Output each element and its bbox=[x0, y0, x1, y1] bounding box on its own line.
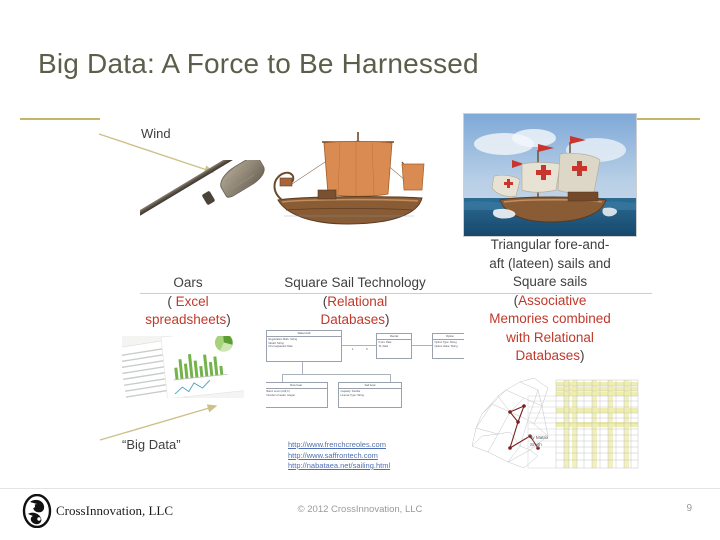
oar-blade bbox=[215, 160, 269, 200]
caption-subtext-lateen: (Associative Memories combined with Rela… bbox=[462, 292, 638, 366]
wind-label: Wind bbox=[141, 126, 171, 141]
er-multiplicity-left: 1 bbox=[352, 347, 354, 351]
oar-image bbox=[140, 160, 280, 260]
er-connector-sailboat bbox=[390, 374, 391, 382]
caption-heading-lateen: Triangular fore-and- aft (lateen) sails … bbox=[462, 236, 638, 292]
er-connector-down-stub bbox=[302, 360, 303, 374]
caption-heading-oars: Oars bbox=[122, 274, 254, 293]
er-multiplicity-right: 0 bbox=[366, 347, 368, 351]
source-link[interactable]: http://www.frenchcreoles.com bbox=[288, 440, 390, 451]
oar-collar bbox=[202, 191, 216, 206]
square-sail-ship-image bbox=[262, 128, 430, 238]
paren-close: ) bbox=[580, 348, 585, 363]
er-entity-option: Option Option Type: String Option Value:… bbox=[432, 333, 464, 359]
caption-red-2: Memories combined bbox=[489, 311, 611, 326]
big-data-label: “Big Data” bbox=[122, 437, 181, 452]
copyright-notice: © 2012 CrossInnovation, LLC bbox=[0, 504, 720, 515]
caption-heading-line-2: aft (lateen) sails and bbox=[489, 256, 611, 271]
caption-heading-line-1: Triangular fore-and- bbox=[491, 237, 610, 252]
paren-close: ) bbox=[226, 312, 231, 327]
er-connector-rowboat bbox=[282, 374, 283, 382]
page-title: Big Data: A Force to Be Harnessed bbox=[38, 47, 678, 81]
source-url-list: http://www.frenchcreoles.com http://www.… bbox=[288, 440, 390, 472]
paren-open: ( bbox=[167, 294, 175, 309]
spreadsheet-photo-image bbox=[122, 336, 244, 398]
accent-rule-left bbox=[20, 118, 100, 120]
er-attribute: License Type: String bbox=[341, 394, 400, 397]
column-caption-square-sail: Square Sail Technology (Relational Datab… bbox=[264, 274, 446, 330]
source-link[interactable]: http://www.saffrontech.com bbox=[288, 451, 390, 462]
caption-red-3: with Relational bbox=[506, 330, 594, 345]
caption-subtext-square-sail: (Relational Databases) bbox=[264, 293, 446, 330]
accent-rule-right bbox=[626, 118, 700, 120]
er-connector-watercraft-rental bbox=[340, 345, 376, 346]
source-link[interactable]: http://nabataea.net/sailing.html bbox=[288, 461, 390, 472]
er-diagram-image: Watercraft Registration Mark: String Mod… bbox=[266, 330, 464, 410]
caption-red-2: spreadsheets bbox=[145, 312, 226, 327]
paren-close: ) bbox=[385, 312, 390, 327]
caption-heading-square-sail: Square Sail Technology bbox=[264, 274, 446, 293]
caption-red-1: Excel bbox=[176, 294, 209, 309]
caption-heading-line-3: Square sails bbox=[513, 274, 587, 289]
slide-number: 9 bbox=[686, 503, 692, 514]
er-entity-sail-boat: Sail boat Capacity: Double License Type:… bbox=[338, 382, 402, 408]
caption-red-1: Relational bbox=[327, 294, 387, 309]
caption-red-4: Databases bbox=[515, 348, 580, 363]
footer-divider bbox=[0, 488, 720, 489]
er-entity-rental: Rental From: Date To: Date bbox=[376, 333, 412, 359]
caravel-painting-image bbox=[463, 113, 637, 237]
er-attribute: Number of seats: Integer bbox=[267, 394, 326, 397]
er-attribute: To: Date bbox=[379, 345, 410, 348]
matrix-caption-line-1: cy Matrix bbox=[530, 435, 549, 440]
caption-red-2: Databases bbox=[320, 312, 385, 327]
matrix-caption-line-2: Smith bbox=[530, 442, 542, 447]
slide-canvas: Big Data: A Force to Be Harnessed Wind bbox=[0, 0, 720, 540]
er-attribute: First registered: Date bbox=[269, 345, 340, 348]
column-caption-oars: Oars ( Excel spreadsheets) bbox=[122, 274, 254, 330]
er-entity-watercraft: Watercraft Registration Mark: String Mod… bbox=[266, 330, 342, 362]
er-connector-subtypes-bus bbox=[282, 374, 390, 375]
caption-red-1: Associative bbox=[518, 293, 586, 308]
caption-subtext-oars: ( Excel spreadsheets) bbox=[122, 293, 254, 330]
network-adjacency-matrix-image: cy Matrix Smith bbox=[468, 376, 640, 474]
column-caption-lateen: Triangular fore-and- aft (lateen) sails … bbox=[462, 236, 638, 366]
er-attribute: Option Value: String bbox=[435, 345, 465, 348]
er-connector-rental-option bbox=[410, 345, 432, 346]
er-entity-row-boat: Row boat Band: enum (A,B,C) Number of se… bbox=[266, 382, 328, 408]
